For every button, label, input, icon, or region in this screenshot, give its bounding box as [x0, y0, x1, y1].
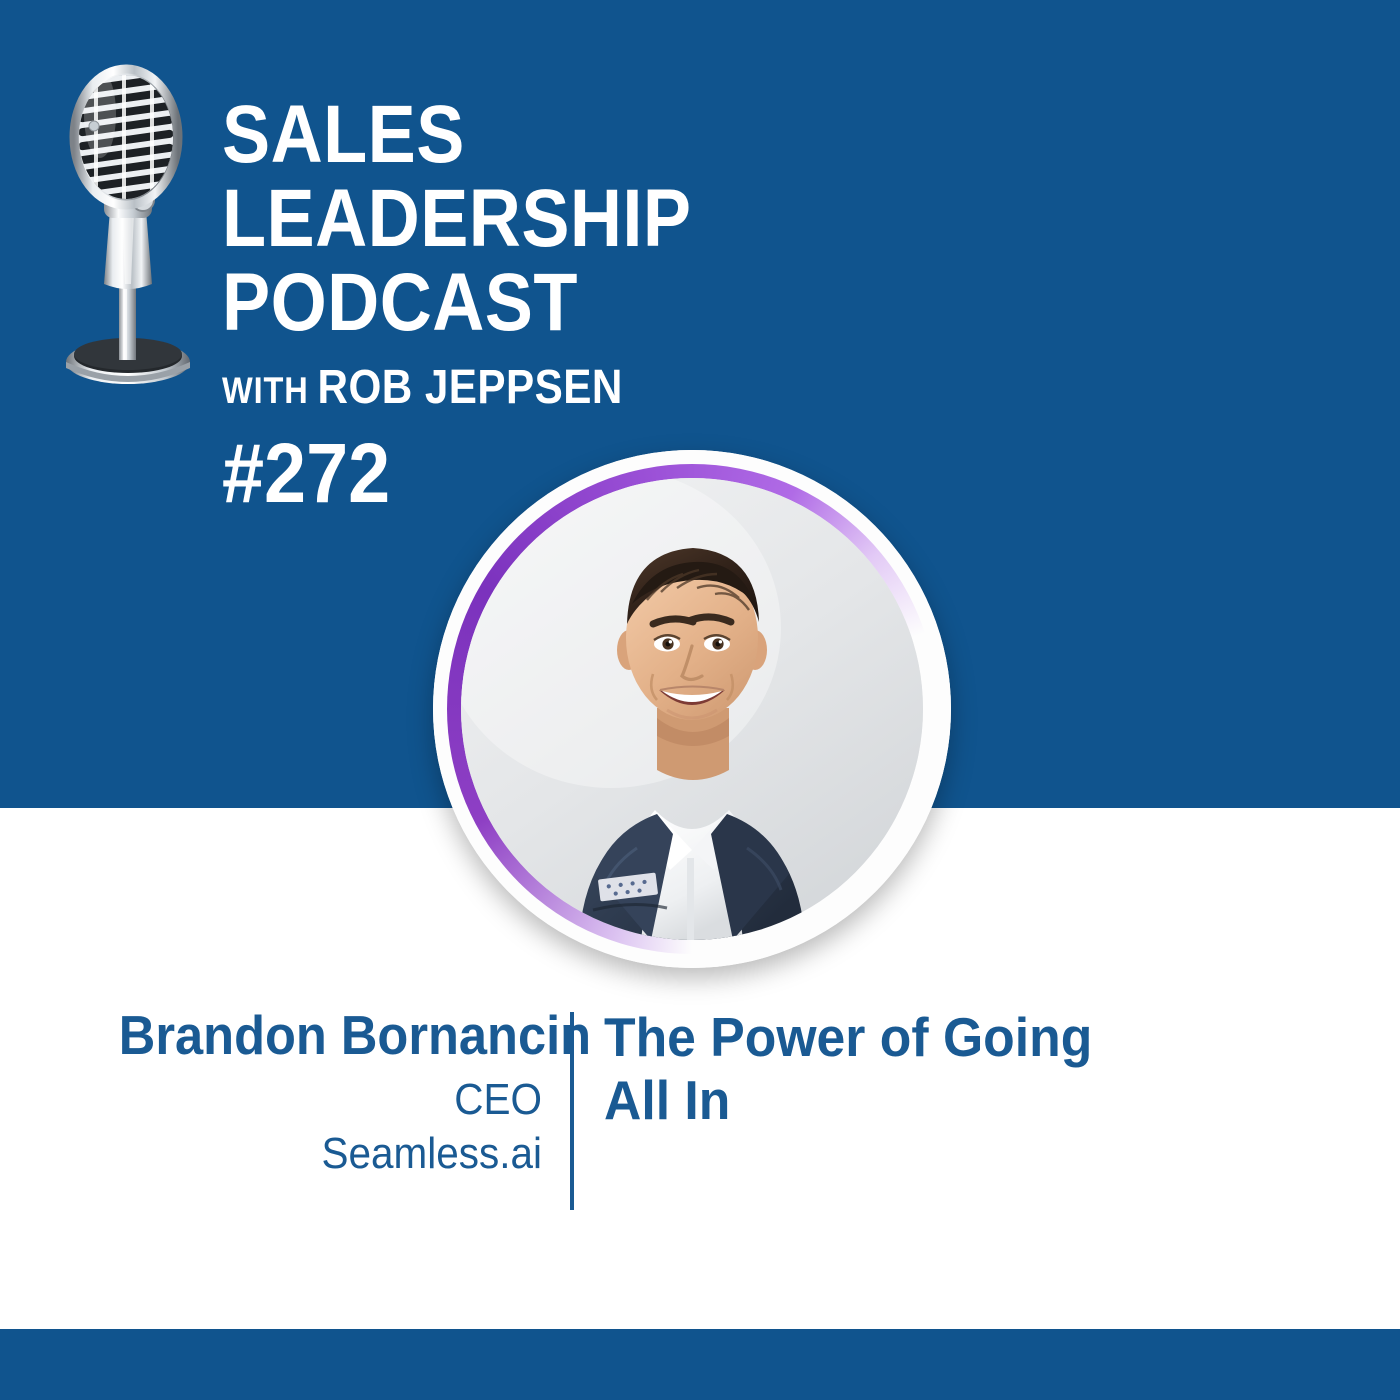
podcast-cover-art: SALES LEADERSHIP PODCAST WITH ROB JEPPSE…: [0, 0, 1400, 1400]
guest-photo-white-ring: [433, 450, 951, 968]
host-name: ROB JEPPSEN: [318, 360, 623, 415]
guest-company: Seamless.ai: [119, 1127, 542, 1181]
show-branding: SALES LEADERSHIP PODCAST WITH ROB JEPPSE…: [222, 96, 692, 515]
episode-title-line-2: All In: [604, 1069, 1112, 1132]
footer-blue-bar: [0, 1329, 1400, 1400]
episode-title-line-1: The Power of Going: [604, 1006, 1112, 1069]
guest-role: CEO: [119, 1073, 542, 1127]
guest-info: Brandon Bornancin CEO Seamless.ai: [82, 1006, 570, 1181]
with-label: WITH: [222, 370, 309, 412]
show-title-line-1: SALES: [222, 96, 636, 174]
show-title-line-2: LEADERSHIP: [222, 180, 636, 258]
guest-photo: [461, 478, 923, 940]
guest-name: Brandon Bornancin: [119, 1006, 542, 1065]
episode-info: Brandon Bornancin CEO Seamless.ai The Po…: [82, 1006, 1182, 1210]
host-credit: WITH ROB JEPPSEN: [222, 360, 636, 415]
vintage-microphone-icon: [48, 42, 208, 397]
show-title-line-3: PODCAST: [222, 264, 636, 342]
episode-title-block: The Power of Going All In: [574, 1006, 1182, 1131]
